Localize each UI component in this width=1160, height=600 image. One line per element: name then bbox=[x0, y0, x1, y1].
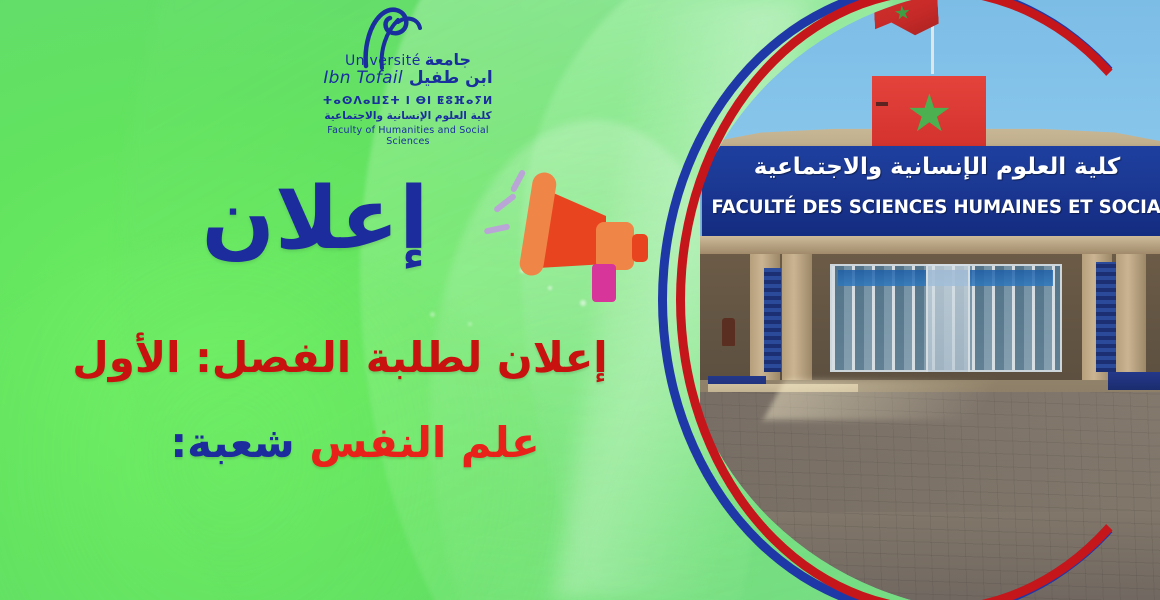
bokeh-dot bbox=[430, 312, 435, 317]
photo-image: ★ ★ كلية العلوم الإنسانية والاجتماعية FA… bbox=[700, 0, 1160, 600]
logo-arabic-faculty: كلية العلوم الإنسانية والاجتماعية bbox=[318, 110, 498, 122]
page-title: إعلان bbox=[150, 176, 480, 262]
moroccan-star-icon: ★ bbox=[906, 88, 953, 140]
announcement-line-semester: إعلان لطلبة الفصل: الأول bbox=[60, 335, 620, 381]
wall-notch bbox=[876, 102, 888, 106]
center-door bbox=[926, 264, 970, 372]
chair bbox=[722, 318, 735, 346]
logo-arabic-university: جامعة bbox=[425, 50, 471, 69]
logo-tifinagh-text: ⵜⴰⵙⴷⴰⵡⵉⵜ ⵏ ⴱⵏ ⵟⵓⴼⴰⵢⵍ bbox=[318, 94, 498, 107]
facade-column bbox=[1116, 254, 1146, 380]
announcement-poster: ★ ★ كلية العلوم الإنسانية والاجتماعية FA… bbox=[0, 0, 1160, 600]
sign-french-text: FACULTÉ DES SCIENCES HUMAINES ET SOCIALE… bbox=[711, 196, 1160, 218]
faculty-photo: ★ ★ كلية العلوم الإنسانية والاجتماعية FA… bbox=[700, 0, 1160, 600]
logo-french-university: Université bbox=[345, 53, 421, 69]
mosaic-tile-panel bbox=[1096, 262, 1116, 372]
megaphone-sound-waves bbox=[484, 169, 527, 235]
sign-arabic-text: كلية العلوم الإنسانية والاجتماعية bbox=[702, 154, 1160, 180]
megaphone-cap bbox=[632, 234, 648, 262]
megaphone-body bbox=[596, 222, 634, 270]
sunlight-patch bbox=[763, 380, 994, 420]
facade-band bbox=[700, 236, 1160, 254]
department-value: علم النفس bbox=[309, 418, 539, 467]
announcement-line-department: علم النفس شعبة: bbox=[120, 420, 590, 466]
logo-french-name: Ibn Tofail bbox=[323, 68, 403, 88]
photo-clip-mask: ★ ★ كلية العلوم الإنسانية والاجتماعية FA… bbox=[700, 0, 1160, 600]
logo-line-name: ابن طفيل Ibn Tofail bbox=[318, 68, 498, 88]
bokeh-dot bbox=[468, 322, 472, 326]
megaphone-handle bbox=[592, 264, 616, 302]
logo-line-university: جامعة Université bbox=[318, 50, 498, 69]
logo-english-faculty: Faculty of Humanities and Social Science… bbox=[318, 125, 498, 147]
flag-star-icon: ★ bbox=[893, 3, 912, 24]
building-sign: كلية العلوم الإنسانية والاجتماعية FACULT… bbox=[702, 146, 1160, 240]
mosaic-tile-panel bbox=[764, 268, 781, 372]
tiled-bench bbox=[1108, 372, 1160, 390]
facade-column bbox=[782, 254, 812, 380]
logo-arabic-name: ابن طفيل bbox=[409, 68, 493, 88]
megaphone-icon bbox=[482, 160, 662, 320]
university-logo: جامعة Université ابن طفيل Ibn Tofail ⵜⴰⵙ… bbox=[318, 6, 498, 146]
department-label: شعبة: bbox=[170, 418, 294, 467]
